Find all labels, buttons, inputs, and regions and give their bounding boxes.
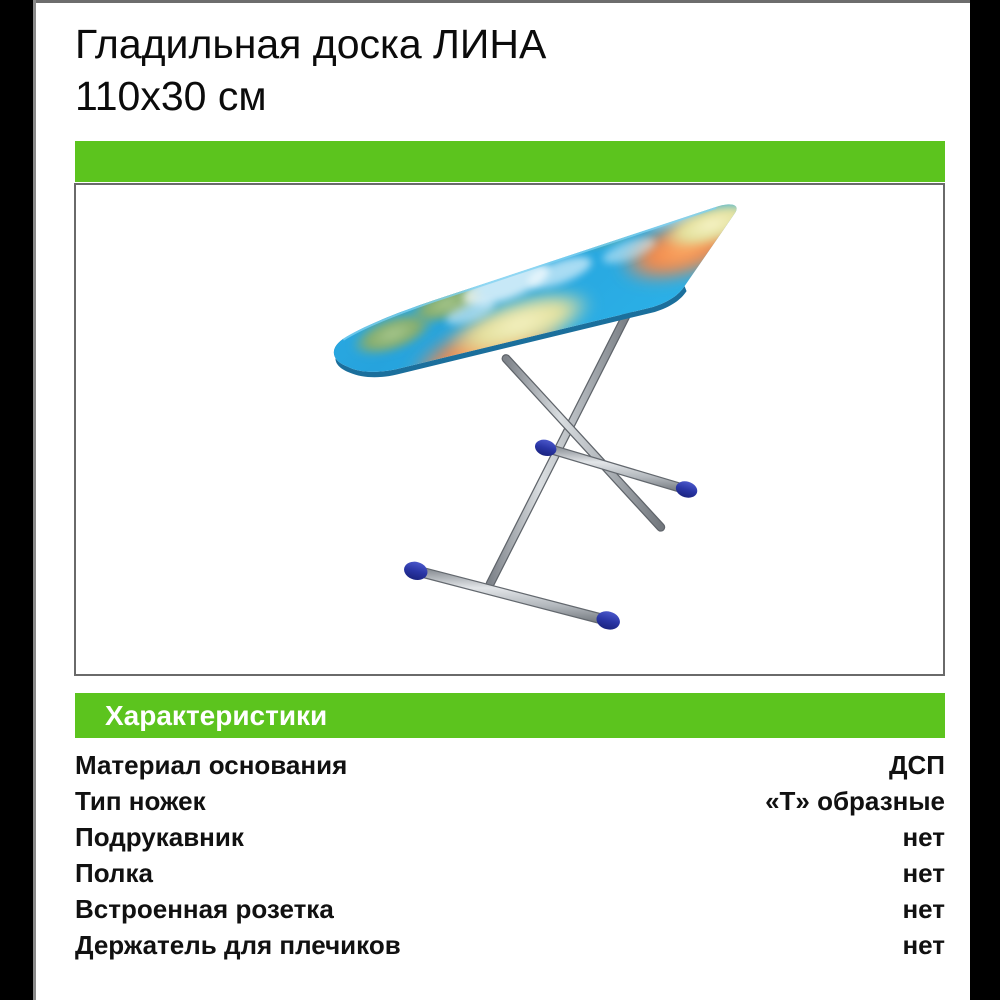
spec-key: Держатель для плечиков — [75, 928, 401, 962]
spec-key: Подрукавник — [75, 820, 244, 854]
spec-value: «Т» образные — [765, 784, 945, 818]
table-row: Подрукавник нет — [75, 820, 945, 856]
table-row: Материал основания ДСП — [75, 748, 945, 784]
table-row: Держатель для плечиков нет — [75, 928, 945, 964]
table-row: Тип ножек «Т» образные — [75, 784, 945, 820]
spec-value: ДСП — [889, 748, 945, 782]
page-title-line-1: Гладильная доска ЛИНА — [75, 18, 935, 70]
specs-table: Материал основания ДСП Тип ножек «Т» обр… — [75, 748, 945, 964]
spec-value: нет — [902, 820, 945, 854]
spec-key: Тип ножек — [75, 784, 206, 818]
table-row: Встроенная розетка нет — [75, 892, 945, 928]
specs-header-label: Характеристики — [105, 700, 327, 732]
accent-bar-top — [75, 141, 945, 182]
page-title-line-2: 110x30 см — [75, 70, 935, 122]
spec-value: нет — [902, 856, 945, 890]
spec-key: Материал основания — [75, 748, 347, 782]
spec-value: нет — [902, 928, 945, 962]
page-title: Гладильная доска ЛИНА 110x30 см — [75, 18, 935, 122]
spec-key: Полка — [75, 856, 153, 890]
product-image-frame — [74, 183, 945, 676]
top-divider — [33, 0, 970, 3]
product-card-page: Гладильная доска ЛИНА 110x30 см — [0, 0, 1000, 1000]
spec-key: Встроенная розетка — [75, 892, 334, 926]
photo-background — [78, 185, 942, 674]
white-sheet: Гладильная доска ЛИНА 110x30 см — [33, 0, 970, 1000]
product-image-ironing-board — [76, 185, 943, 674]
left-divider — [33, 0, 36, 1000]
spec-value: нет — [902, 892, 945, 926]
specs-header-bar: Характеристики — [75, 693, 945, 738]
table-row: Полка нет — [75, 856, 945, 892]
